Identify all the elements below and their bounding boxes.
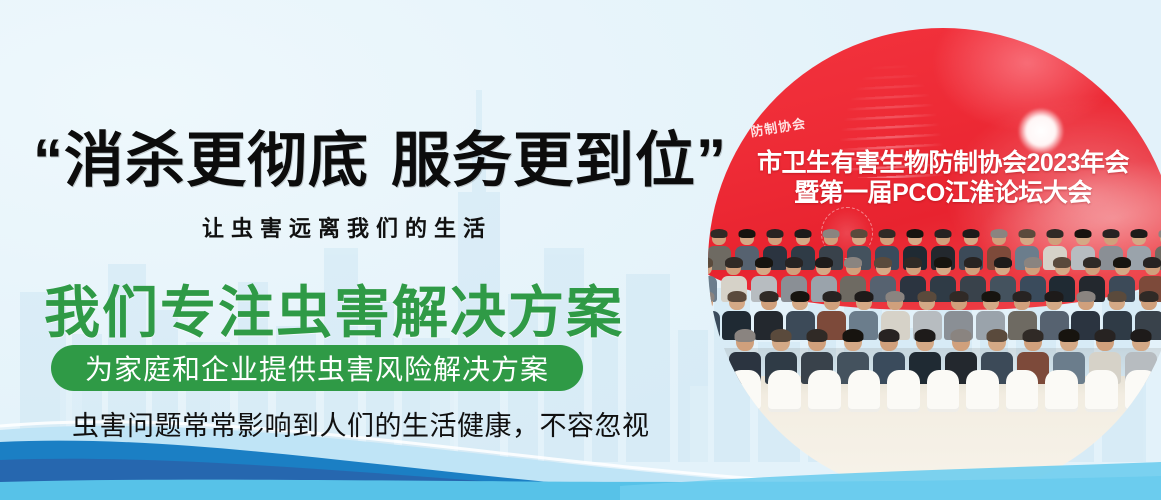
attendee-hair xyxy=(735,329,756,342)
attendee-hair xyxy=(879,229,896,238)
attendee-hair xyxy=(1019,229,1036,238)
service-pill-banner: 为家庭和企业提供虫害风险解决方案 xyxy=(51,345,583,391)
page-title: “消杀更彻底服务更到位” xyxy=(33,112,727,199)
attendee-hair xyxy=(708,291,715,302)
attendee-hair xyxy=(711,229,728,238)
attendee-hair xyxy=(708,257,713,268)
attendee-hair xyxy=(1140,291,1159,302)
chair xyxy=(1125,370,1158,412)
chair xyxy=(1006,370,1039,412)
attendee-hair xyxy=(822,291,841,302)
attendee-hair xyxy=(815,257,833,268)
attendee-hair xyxy=(1108,291,1127,302)
backdrop-title-line2: 暨第一届PCO江淮论坛大会 xyxy=(708,178,1161,209)
chair xyxy=(729,370,762,412)
chair xyxy=(887,370,920,412)
attendee-hair xyxy=(1024,257,1042,268)
attendee-hair xyxy=(843,329,864,342)
chair xyxy=(1085,370,1118,412)
attendee-hair xyxy=(739,229,756,238)
attendee-hair xyxy=(907,229,924,238)
attendee-hair xyxy=(994,257,1012,268)
attendee-hair xyxy=(1053,257,1071,268)
attendee-hair xyxy=(1131,229,1148,238)
attendee-hair xyxy=(759,291,778,302)
attendee-hair xyxy=(1045,291,1064,302)
attendee-hair xyxy=(915,329,936,342)
attendee-hair xyxy=(1076,291,1095,302)
attendee-hair xyxy=(807,329,828,342)
attendee-hair xyxy=(755,257,773,268)
attendee-hair xyxy=(874,257,892,268)
attendee-hair xyxy=(708,329,720,342)
attendee-hair xyxy=(727,291,746,302)
headline-left: “消杀更彻底 xyxy=(33,127,369,194)
chair xyxy=(1045,370,1078,412)
attendee-hair xyxy=(771,329,792,342)
backdrop-title: 市卫生有害生物防制协会2023年会 暨第一届PCO江淮论坛大会 xyxy=(708,148,1161,209)
chair xyxy=(808,370,841,412)
attendee-hair xyxy=(1083,257,1101,268)
attendee-hair xyxy=(886,291,905,302)
conference-group-photo: 防制协会 市卫生有害生物防制协会2023年会 暨第一届PCO江淮论坛大会 xyxy=(708,28,1161,498)
headline-right: 服务更到位” xyxy=(391,127,727,194)
attendee-hair xyxy=(879,329,900,342)
chair xyxy=(768,370,801,412)
attendee-hair xyxy=(934,257,952,268)
attendee-hair xyxy=(1095,329,1116,342)
attendee-hair xyxy=(844,257,862,268)
attendee-hair xyxy=(1023,329,1044,342)
chair xyxy=(848,370,881,412)
attendee-hair xyxy=(904,257,922,268)
attendee-hair xyxy=(854,291,873,302)
attendee-hair xyxy=(1047,229,1064,238)
attendee-hair xyxy=(851,229,868,238)
attendee-hair xyxy=(823,229,840,238)
attendee-hair xyxy=(1013,291,1032,302)
attendee-hair xyxy=(1113,257,1131,268)
chair xyxy=(927,370,960,412)
chair xyxy=(708,370,722,412)
attendee-hair xyxy=(785,257,803,268)
attendee-hair xyxy=(795,229,812,238)
service-pill-label: 为家庭和企业提供虫害风险解决方案 xyxy=(85,348,549,388)
attendee-hair xyxy=(1075,229,1092,238)
hero-banner: 防制协会 市卫生有害生物防制协会2023年会 暨第一届PCO江淮论坛大会 xyxy=(0,0,1161,500)
attendee-hair xyxy=(987,329,1008,342)
tagline: 虫害问题常常影响到人们的生活健康，不容忽视 xyxy=(72,404,650,443)
green-heading: 我们专注虫害解决方案 xyxy=(44,268,624,349)
attendee-hair xyxy=(935,229,952,238)
attendee-hair xyxy=(964,257,982,268)
attendee-hair xyxy=(981,291,1000,302)
attendee-hair xyxy=(951,329,972,342)
attendee-hair xyxy=(1143,257,1161,268)
attendee-hair xyxy=(918,291,937,302)
attendee-hair xyxy=(767,229,784,238)
backdrop-title-line1: 市卫生有害生物防制协会2023年会 xyxy=(708,148,1161,179)
chair xyxy=(966,370,999,412)
attendee-hair xyxy=(963,229,980,238)
attendee-hair xyxy=(949,291,968,302)
attendee-hair xyxy=(1103,229,1120,238)
attendee-hair xyxy=(791,291,810,302)
chair-row xyxy=(708,370,1161,412)
attendee-hair xyxy=(991,229,1008,238)
attendee-crowd xyxy=(708,230,1161,418)
attendee-hair xyxy=(725,257,743,268)
attendee-hair xyxy=(1059,329,1080,342)
attendee-hair xyxy=(1131,329,1152,342)
subtitle: 让虫害远离我们的生活 xyxy=(202,211,492,243)
